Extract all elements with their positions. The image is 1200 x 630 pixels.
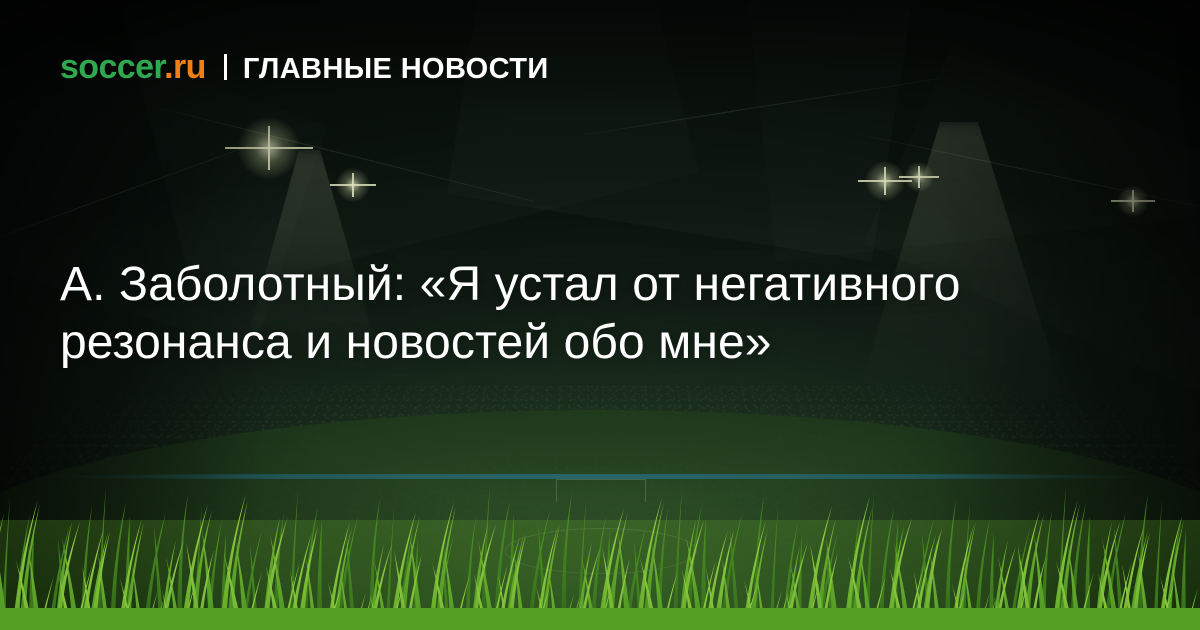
section-kicker: ГЛАВНЫЕ НОВОСТИ bbox=[243, 55, 549, 84]
social-share-card: soccer.ru ГЛАВНЫЕ НОВОСТИ А. Заболотный:… bbox=[0, 0, 1200, 630]
site-logo-name: soccer bbox=[60, 48, 164, 86]
site-logo[interactable]: soccer.ru bbox=[60, 50, 206, 84]
brand-separator bbox=[224, 54, 227, 80]
page-title: А. Заболотный: «Я устал от негативного р… bbox=[60, 256, 1070, 372]
card-content: soccer.ru ГЛАВНЫЕ НОВОСТИ А. Заболотный:… bbox=[0, 0, 1200, 630]
site-logo-tld: .ru bbox=[164, 48, 206, 86]
brand-bar[interactable]: soccer.ru ГЛАВНЫЕ НОВОСТИ bbox=[60, 50, 549, 84]
